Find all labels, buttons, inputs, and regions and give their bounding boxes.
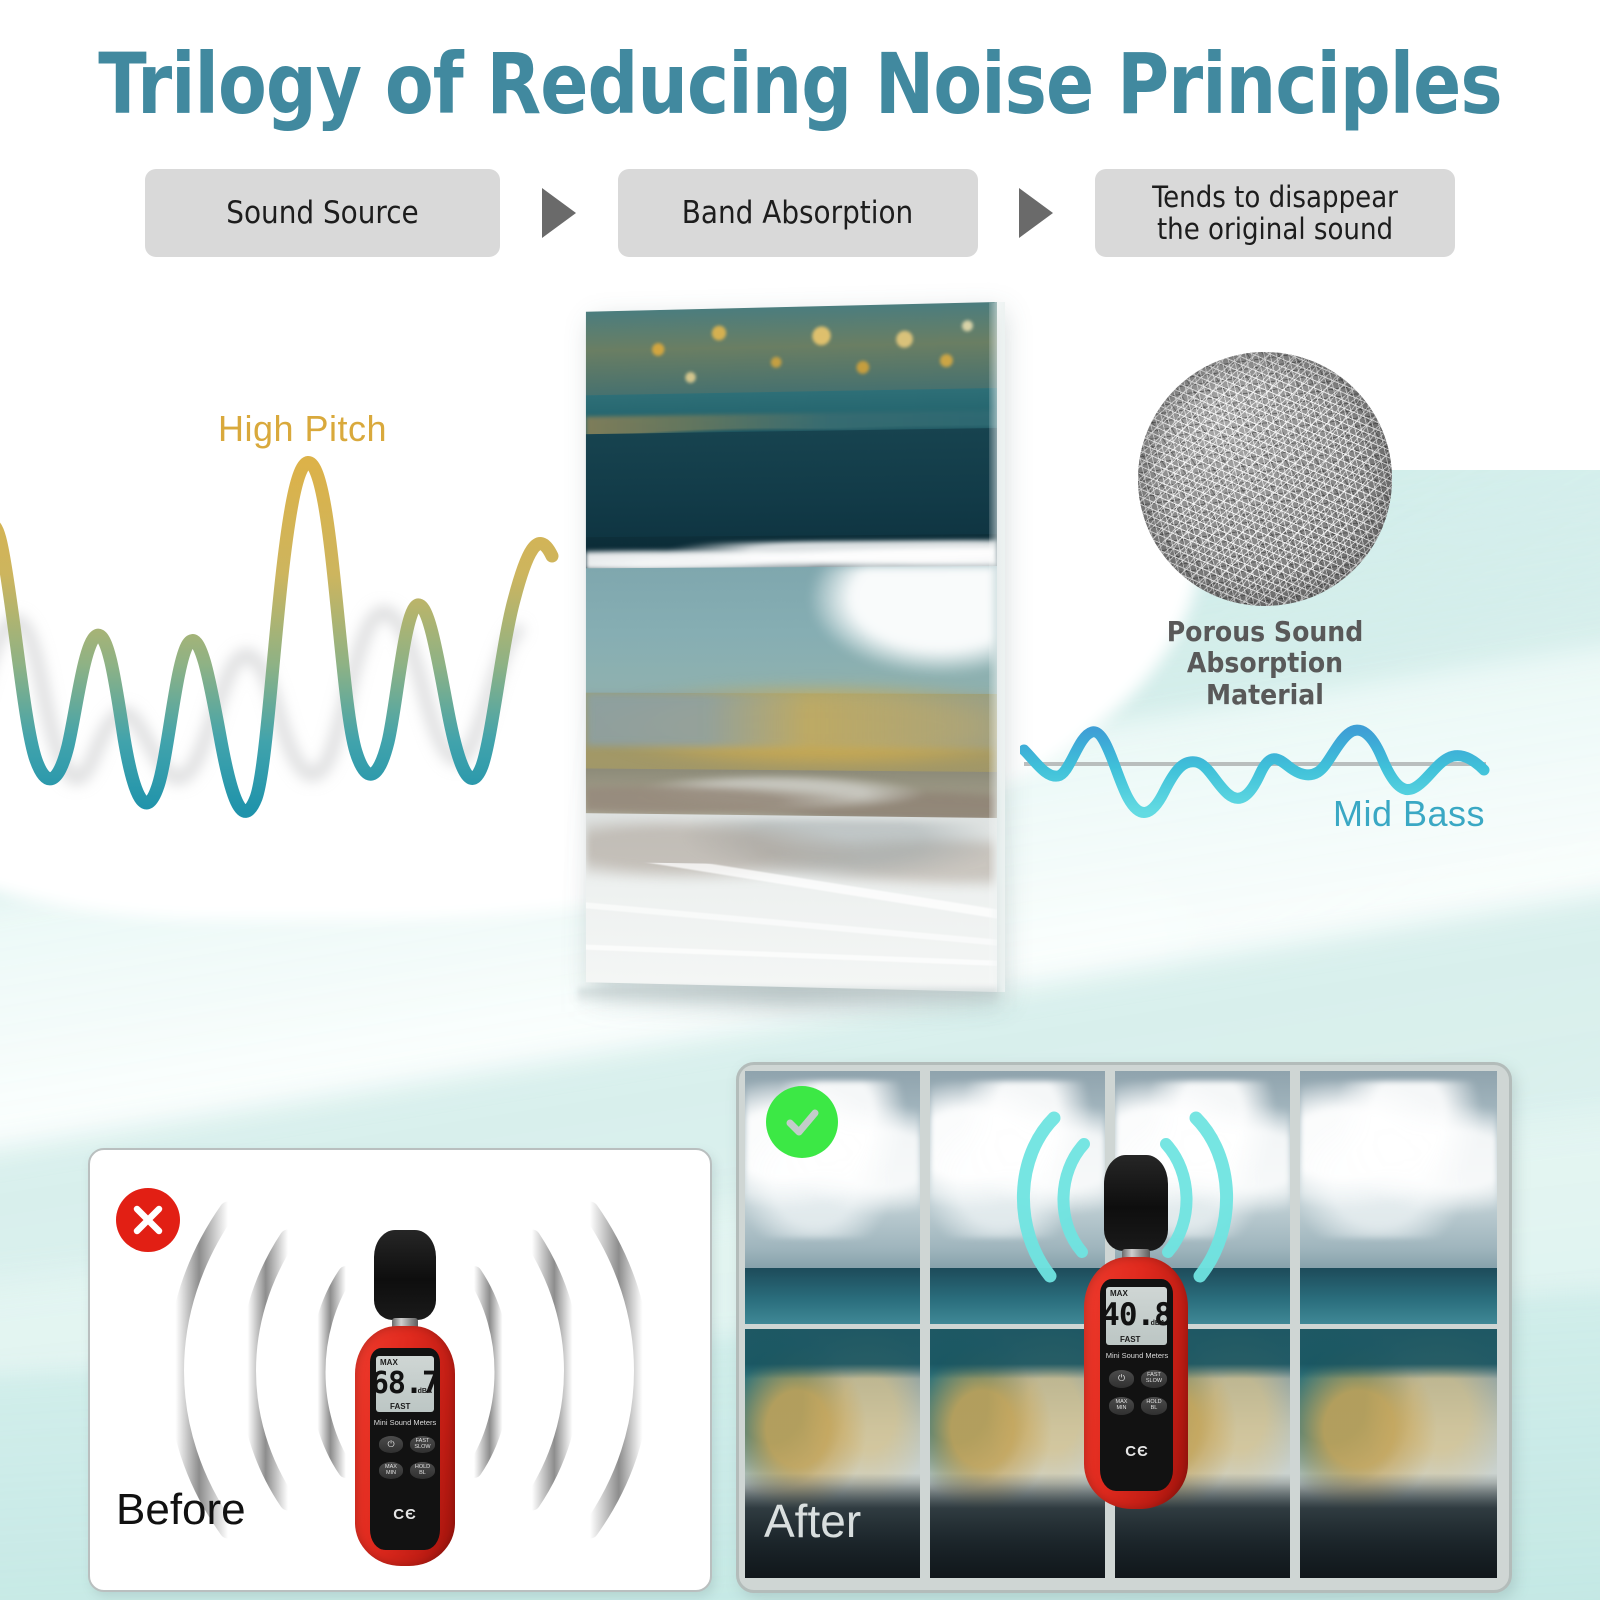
meter-fast-slow-button[interactable]: FAST SLOW: [1141, 1370, 1167, 1388]
ce-mark-icon: CЄ: [330, 1506, 480, 1523]
meter-max-min-button[interactable]: MAX MIN: [1109, 1397, 1134, 1415]
page-title: Trilogy of Reducing Noise Principles: [48, 42, 1552, 126]
x-circle-icon: [116, 1188, 180, 1252]
artwork-face: [586, 302, 997, 992]
ce-mark-icon: CЄ: [1062, 1443, 1212, 1460]
sound-meter-before: MAX 68.7 dBA FAST Mini Sound Meters ⏻ FA…: [330, 1230, 480, 1570]
before-caption: Before: [116, 1485, 246, 1535]
meter-mode-fast: FAST: [1120, 1335, 1140, 1344]
mid-bass-label: Mid Bass: [1333, 793, 1485, 835]
porous-material-caption: Porous Sound Absorption Material: [1124, 616, 1406, 710]
infographic-canvas: Trilogy of Reducing Noise Principles Sou…: [0, 0, 1600, 1600]
acoustic-canvas-art: [572, 302, 1004, 1002]
meter-brand-label: Mini Sound Meters: [330, 1418, 480, 1427]
meter-hold-bl-button[interactable]: HOLD BL: [410, 1462, 435, 1479]
meter-mode-fast: FAST: [390, 1402, 410, 1411]
flow-step-band-absorption[interactable]: Band Absorption: [618, 169, 978, 257]
sound-meter-after: MAX 40.8 dBA FAST Mini Sound Meters ⏻ FA…: [1062, 1155, 1212, 1515]
check-circle-icon: [766, 1086, 838, 1158]
porous-material-image: [1138, 352, 1392, 606]
play-triangle-icon: [542, 188, 576, 238]
meter-mode-max: MAX: [380, 1358, 398, 1367]
meter-brand-label: Mini Sound Meters: [1062, 1351, 1212, 1360]
high-pitch-label: High Pitch: [218, 408, 387, 450]
meter-unit: dBA: [418, 1388, 432, 1395]
flow-step-disappear[interactable]: Tends to disappear the original sound: [1095, 169, 1455, 257]
meter-reading: 68.7: [371, 1366, 439, 1403]
meter-mode-max: MAX: [1110, 1289, 1128, 1298]
flow-arrow-1-wrap: [500, 188, 618, 238]
meter-power-button[interactable]: ⏻: [1109, 1370, 1134, 1388]
meter-fast-slow-button[interactable]: FAST SLOW: [410, 1436, 435, 1453]
high-pitch-waveform: [0, 430, 600, 860]
flow-arrow-2-wrap: [978, 188, 1096, 238]
artwork-side-edge: [989, 302, 1005, 992]
meter-max-min-button[interactable]: MAX MIN: [379, 1462, 403, 1479]
flow-step-sound-source[interactable]: Sound Source: [145, 169, 500, 257]
meter-reading: 40.8: [1101, 1297, 1172, 1335]
meter-power-button[interactable]: ⏻: [379, 1436, 403, 1453]
after-caption: After: [764, 1494, 861, 1548]
process-flow: Sound Source Band Absorption Tends to di…: [145, 168, 1455, 258]
meter-hold-bl-button[interactable]: HOLD BL: [1141, 1397, 1167, 1415]
artwork-base-shadow: [578, 988, 998, 1006]
meter-unit: dBA: [1151, 1320, 1165, 1327]
play-triangle-icon: [1019, 188, 1053, 238]
